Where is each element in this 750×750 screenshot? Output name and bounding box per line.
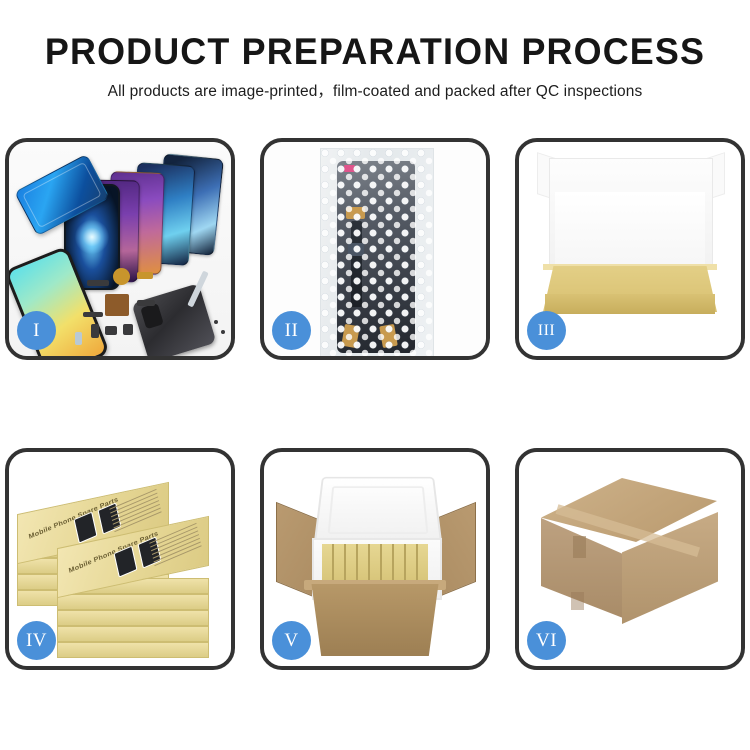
page-title: PRODUCT PREPARATION PROCESS (11, 33, 739, 70)
part-button-icon (91, 324, 99, 338)
carton-seam-icon (573, 536, 586, 558)
process-step-2[interactable]: II (260, 138, 490, 360)
part-glass-icon (75, 332, 82, 345)
process-step-6[interactable]: VI (515, 448, 745, 670)
bubble-texture-icon (321, 149, 433, 356)
step-badge-1: I (17, 311, 56, 350)
process-step-grid: I II (0, 138, 750, 670)
page-header: PRODUCT PREPARATION PROCESS All products… (0, 0, 750, 100)
yellow-tray-front-icon (545, 294, 715, 314)
step-badge-3: III (527, 311, 566, 350)
box-edge (57, 626, 209, 642)
part-motor-icon (123, 324, 133, 335)
carton-body-icon (306, 584, 444, 656)
box-edge (57, 610, 209, 626)
step-badge-5: V (272, 621, 311, 660)
carton-seam-icon (571, 592, 584, 610)
part-strip-icon (87, 280, 109, 286)
screw-icon (214, 320, 218, 324)
white-foam-sheet-icon (555, 192, 705, 270)
bubble-wrap-bag-icon (320, 148, 434, 356)
part-cable-icon (137, 300, 155, 306)
part-flex-gold-icon (137, 272, 153, 279)
process-step-4[interactable]: Mobile Phone Spare Parts Mobile Phone Sp… (5, 448, 235, 670)
part-bracket-icon (83, 312, 103, 317)
box-edge (57, 642, 209, 658)
step-badge-6: VI (527, 621, 566, 660)
process-step-3[interactable]: III (515, 138, 745, 360)
process-step-1[interactable]: I (5, 138, 235, 360)
box-edge (57, 594, 209, 610)
part-speaker-icon (113, 268, 130, 285)
page-subtitle: All products are image-printed，film-coat… (0, 84, 750, 100)
part-chip-icon (105, 294, 129, 316)
foam-lid-icon (313, 477, 442, 546)
screw-icon (221, 330, 225, 334)
step-badge-4: IV (17, 621, 56, 660)
process-step-5[interactable]: V (260, 448, 490, 670)
part-camera-icon (105, 326, 117, 335)
step-badge-2: II (272, 311, 311, 350)
